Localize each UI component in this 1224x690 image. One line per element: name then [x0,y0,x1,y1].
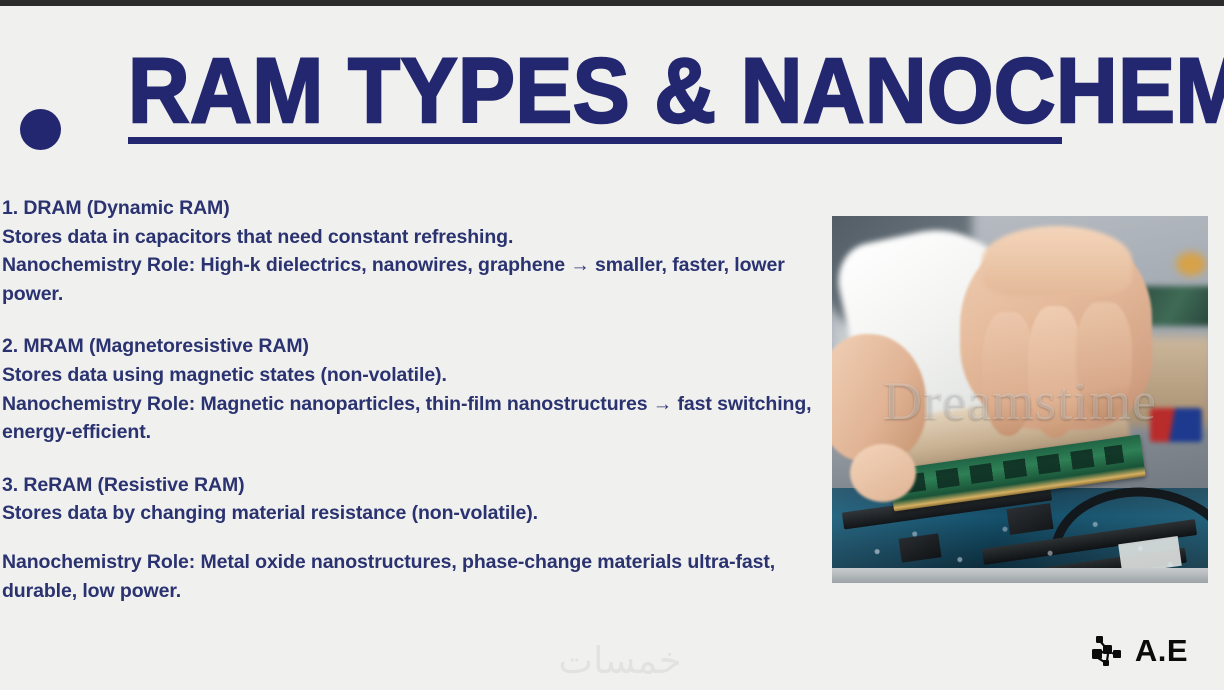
slide-canvas: RAM TYPES & NANOCHEMISTRY 1. DRAM (Dynam… [0,6,1224,690]
khamsat-watermark: خمسات [505,639,735,683]
section-dram-nanochemistry: Nanochemistry Role: High-k dielectrics, … [2,254,785,305]
photo-finger-index [982,312,1034,436]
brand-text: A.E [1135,634,1188,668]
section-mram-heading: 2. MRAM (Magnetoresistive RAM) [2,332,838,361]
title-wrapper: RAM TYPES & NANOCHEMISTRY [128,40,1068,132]
section-mram-nanochemistry: Nanochemistry Role: Magnetic nanoparticl… [2,393,811,444]
section-dram-heading: 1. DRAM (Dynamic RAM) [2,194,838,223]
body-content-column: 1. DRAM (Dynamic RAM) Stores data in cap… [2,194,838,605]
section-reram-nanochemistry: Nanochemistry Role: Metal oxide nanostru… [2,551,775,602]
section-mram: 2. MRAM (Magnetoresistive RAM) Stores da… [2,332,838,446]
section-reram-spacer [2,528,838,548]
photo-laptop-chassis [832,568,1208,583]
photo-finger-middle [1028,306,1082,438]
photo-finger-ring [1076,302,1132,420]
section-dram-definition: Stores data in capacitors that need cons… [2,223,838,252]
ram-installation-photo: Dreamstime [832,216,1208,583]
photo-thumb [850,444,916,502]
page-title: RAM TYPES & NANOCHEMISTRY [128,40,1106,143]
section-mram-definition: Stores data using magnetic states (non-v… [2,361,838,390]
section-reram-definition: Stores data by changing material resista… [2,499,838,528]
title-underline [128,137,1062,144]
molecule-node-icon [1091,634,1125,668]
brand-logo: A.E [1091,634,1188,668]
section-dram: 1. DRAM (Dynamic RAM) Stores data in cap… [2,194,838,308]
slide-header: RAM TYPES & NANOCHEMISTRY [0,40,1224,160]
section-reram-heading: 3. ReRAM (Resistive RAM) [2,471,838,500]
photo-bokeh-light [1176,252,1206,276]
photo-tool-box [1150,408,1202,442]
section-reram: 3. ReRAM (Resistive RAM) Stores data by … [2,471,838,605]
bullet-dot-icon [20,109,61,150]
photo-knuckles [982,226,1132,296]
